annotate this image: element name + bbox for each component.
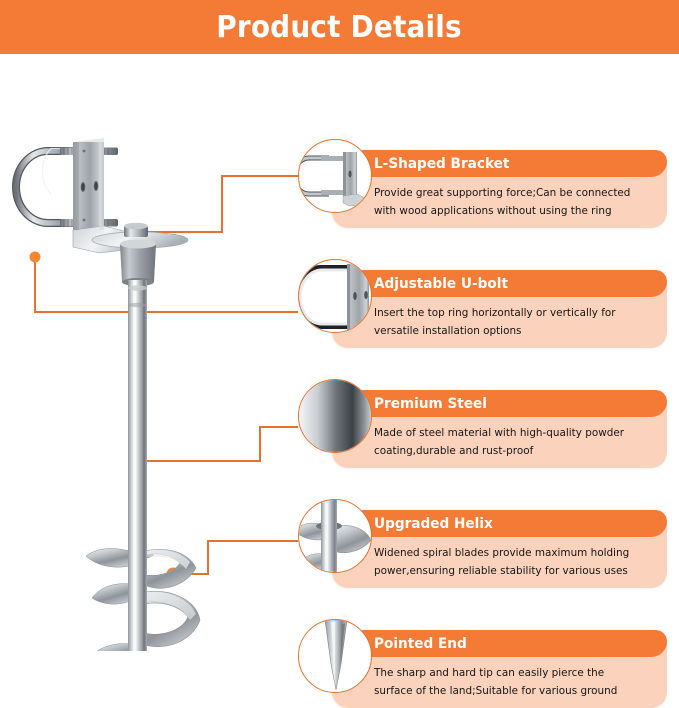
feature-description: Made of steel material with high-quality… <box>374 424 645 459</box>
anchor-dot-adjustable-u-bolt <box>30 252 41 263</box>
collar-icon <box>120 244 156 282</box>
u-bolt-thumb-icon <box>299 260 372 333</box>
feature-description: The sharp and hard tip can easily pierce… <box>374 664 645 699</box>
feature-card-upgraded-helix[interactable]: Upgraded Helix Widened spiral blades pro… <box>332 510 667 588</box>
feature-card-body: Widened spiral blades provide maximum ho… <box>332 537 667 588</box>
feature-title: Upgraded Helix <box>374 516 493 532</box>
feature-thumb-pointed-end <box>298 619 372 693</box>
helix-blades-part <box>86 544 200 651</box>
helix-blade-lower-left-icon <box>90 644 134 651</box>
feature-description: Widened spiral blades provide maximum ho… <box>374 544 645 579</box>
feature-card-header: Upgraded Helix <box>332 510 667 537</box>
feature-thumb-adjustable-u-bolt <box>298 259 372 333</box>
infographic-stage: L-Shaped Bracket Provide great supportin… <box>0 54 679 651</box>
connector-adjustable-u-bolt <box>35 257 298 312</box>
feature-card-header: Adjustable U-bolt <box>332 270 667 297</box>
feature-thumb-l-shaped-bracket <box>298 139 372 213</box>
feature-description: Provide great supporting force;Can be co… <box>374 184 645 219</box>
feature-thumb-premium-steel <box>298 379 372 453</box>
feature-card-header: Premium Steel <box>332 390 667 417</box>
feature-title: L-Shaped Bracket <box>374 156 509 172</box>
feature-title: Premium Steel <box>374 396 487 412</box>
feature-card-body: The sharp and hard tip can easily pierce… <box>332 657 667 708</box>
feature-card-pointed-end[interactable]: Pointed End The sharp and hard tip can e… <box>332 630 667 708</box>
helix-blade-mid-left-icon <box>92 584 134 605</box>
helix-thumb-icon <box>299 500 372 573</box>
feature-card-premium-steel[interactable]: Premium Steel Made of steel material wit… <box>332 390 667 468</box>
feature-card-body: Provide great supporting force;Can be co… <box>332 177 667 228</box>
feature-description: Insert the top ring horizontally or vert… <box>374 304 645 339</box>
steel-surface-thumb-icon <box>299 380 372 453</box>
feature-card-header: L-Shaped Bracket <box>332 150 667 177</box>
pointed-tip-thumb-icon <box>299 620 372 693</box>
helix-blade-upper-left-icon <box>86 549 133 568</box>
feature-card-body: Made of steel material with high-quality… <box>332 417 667 468</box>
feature-card-adjustable-u-bolt[interactable]: Adjustable U-bolt Insert the top ring ho… <box>332 270 667 348</box>
feature-title: Adjustable U-bolt <box>374 276 508 292</box>
page-title: Product Details <box>217 10 463 45</box>
l-shaped-bracket-thumb-icon <box>299 140 372 213</box>
feature-title: Pointed End <box>374 636 467 652</box>
page-header: Product Details <box>0 0 679 54</box>
feature-card-header: Pointed End <box>332 630 667 657</box>
feature-thumb-upgraded-helix <box>298 499 372 573</box>
connector-premium-steel <box>137 427 298 461</box>
feature-card-body: Insert the top ring horizontally or vert… <box>332 297 667 348</box>
feature-card-l-shaped-bracket[interactable]: L-Shaped Bracket Provide great supportin… <box>332 150 667 228</box>
